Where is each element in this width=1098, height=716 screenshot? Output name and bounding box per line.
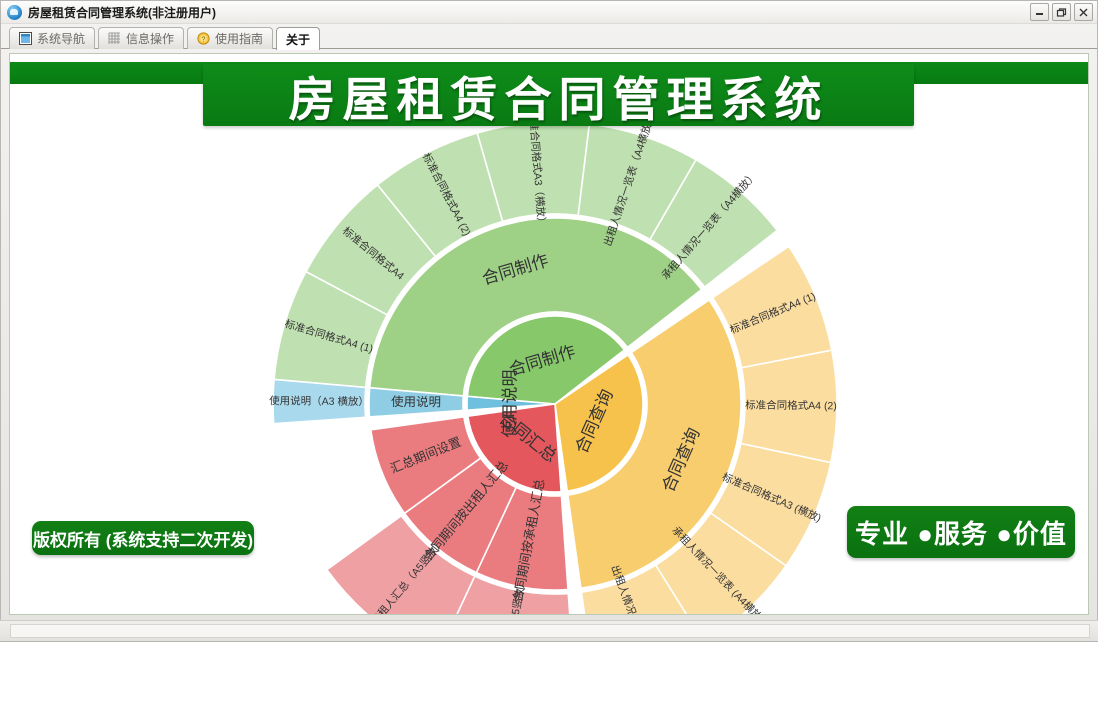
about-content-pane: 合同制作合同制作标准合同格式A4 (1)标准合同格式A4标准合同格式A4 (2)…	[9, 53, 1089, 615]
sunburst-outer-label-contract-query-1: 标准合同格式A4 (2)	[745, 398, 837, 412]
window-controls	[1030, 3, 1093, 21]
window-bottom-strip	[0, 620, 1098, 641]
window-title: 房屋租赁合同管理系统(非注册用户)	[28, 4, 216, 21]
app-globe-icon	[7, 5, 22, 20]
tab-label: 关于	[286, 31, 310, 48]
tab-information-operations[interactable]: 信息操作	[98, 27, 184, 49]
help-coin-icon: ?	[197, 32, 210, 45]
slogan-badge: 专业 ●服务 ●价值	[847, 506, 1075, 558]
copyright-badge: 版权所有 (系统支持二次开发)	[32, 521, 254, 555]
sunburst-middle-label-usage-instructions-0: 使用说明	[391, 394, 441, 409]
maximize-button[interactable]	[1052, 3, 1071, 21]
minimize-button[interactable]	[1030, 3, 1049, 21]
tab-strip: 系统导航 信息操作 ? 使用指南 关于	[1, 26, 1097, 49]
horizontal-scrollbar[interactable]	[10, 624, 1090, 638]
banner-plate: 房屋租赁合同管理系统	[203, 64, 914, 126]
tab-usage-guide[interactable]: ? 使用指南	[187, 27, 273, 49]
grid-icon	[108, 32, 121, 45]
tab-label: 系统导航	[37, 30, 85, 47]
tab-label: 使用指南	[215, 30, 263, 47]
close-button[interactable]	[1074, 3, 1093, 21]
application-window: 房屋租赁合同管理系统(非注册用户) 系统导航	[0, 0, 1098, 642]
tab-label: 信息操作	[126, 30, 174, 47]
banner-title: 房屋租赁合同管理系统	[289, 61, 829, 130]
tab-system-navigation[interactable]: 系统导航	[9, 27, 95, 49]
window-icon	[19, 32, 32, 45]
tab-about[interactable]: 关于	[276, 27, 320, 50]
sunburst-outer-label-usage-instructions-0: 使用说明（A3 横放）	[269, 394, 369, 408]
svg-text:?: ?	[202, 36, 206, 43]
title-bar: 房屋租赁合同管理系统(非注册用户)	[1, 1, 1097, 24]
sunburst-inner-label-usage-instructions: 使用说明	[499, 370, 520, 438]
desktop-background	[0, 642, 1098, 716]
